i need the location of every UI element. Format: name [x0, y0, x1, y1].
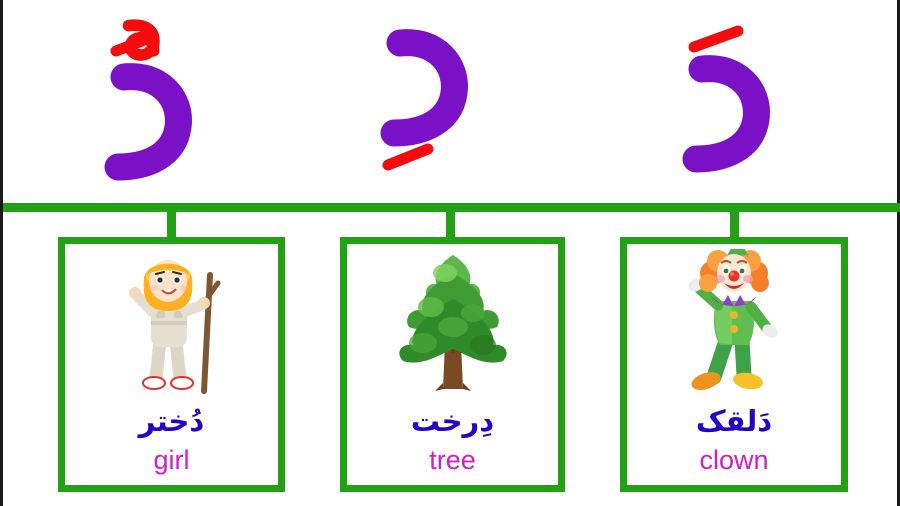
tree-icon: [347, 244, 558, 399]
word-card-clown[interactable]: دَلقک clown: [620, 237, 848, 492]
girl-with-stick-icon: [65, 244, 278, 399]
card-word-persian: دَلقک: [696, 405, 772, 438]
clown-icon: [627, 244, 841, 399]
letter-cell-dal-damma: [25, 0, 325, 205]
glyph-dal-fatha: [668, 3, 838, 203]
glyph-dal-damma: [90, 3, 260, 203]
dal-letter-shape: [668, 51, 838, 181]
connector-drop-clown: [730, 206, 739, 240]
connector-drop-tree: [446, 206, 455, 240]
slide-canvas: دُختر girl: [0, 0, 900, 506]
word-card-tree[interactable]: دِرخت tree: [340, 237, 565, 492]
card-word-english: tree: [429, 446, 476, 476]
word-card-girl[interactable]: دُختر girl: [58, 237, 285, 492]
dal-letter-shape: [366, 25, 536, 155]
letters-row: [3, 0, 900, 205]
damma-icon: [112, 11, 172, 63]
glyph-dal-kasra: [366, 3, 536, 203]
dal-letter-shape: [90, 59, 260, 189]
letter-cell-dal-fatha: [603, 0, 900, 205]
card-word-english: clown: [699, 446, 768, 476]
card-word-persian: دُختر: [139, 405, 205, 438]
connector-drop-girl: [167, 206, 176, 240]
fatha-icon: [690, 25, 750, 53]
letter-cell-dal-kasra: [301, 0, 601, 205]
card-word-english: girl: [153, 446, 189, 476]
card-word-persian: دِرخت: [411, 405, 494, 438]
